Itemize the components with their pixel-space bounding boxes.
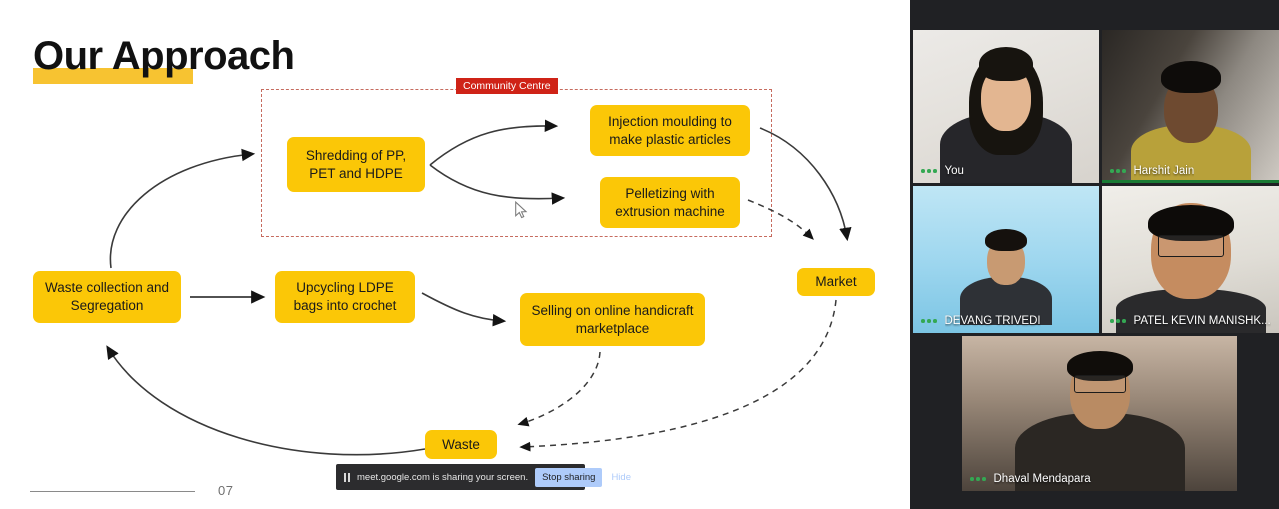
- participant-name: Dhaval Mendapara: [994, 472, 1091, 486]
- participant-name: DEVANG TRIVEDI: [945, 314, 1041, 328]
- tile-label: You: [913, 160, 1099, 183]
- slide-title-block: Our Approach: [33, 30, 294, 82]
- participant-tile-you[interactable]: You: [913, 30, 1099, 183]
- tile-label: PATEL KEVIN MANISHK...: [1102, 310, 1279, 333]
- participant-tile-dhaval-mendapara[interactable]: Dhaval Mendapara: [962, 336, 1237, 491]
- participant-tile-devang-trivedi[interactable]: DEVANG TRIVEDI: [913, 186, 1099, 333]
- participant-name: PATEL KEVIN MANISHK...: [1134, 314, 1271, 328]
- tile-label: Dhaval Mendapara: [962, 468, 1237, 491]
- node-injection-moulding[interactable]: Injection moulding to make plastic artic…: [590, 105, 750, 156]
- node-pelletizing[interactable]: Pelletizing with extrusion machine: [600, 177, 740, 228]
- meet-panel-topbar: [910, 0, 1279, 27]
- sharing-status-text: meet.google.com is sharing your screen.: [357, 472, 528, 483]
- mic-active-dots-icon: [921, 319, 937, 323]
- node-waste[interactable]: Waste: [425, 430, 497, 459]
- arrow-collection-to-shredding: [110, 154, 252, 268]
- tile-label: DEVANG TRIVEDI: [913, 310, 1099, 333]
- tile-label: Harshit Jain: [1102, 160, 1279, 183]
- mic-active-dots-icon: [970, 477, 986, 481]
- slide-page-number: 07: [218, 483, 233, 498]
- stop-sharing-button[interactable]: Stop sharing: [535, 468, 602, 487]
- node-upcycling-ldpe[interactable]: Upcycling LDPE bags into crochet: [275, 271, 415, 323]
- participant-name: You: [945, 164, 964, 178]
- arrow-selling-to-waste: [520, 352, 600, 424]
- glasses-icon: [1158, 235, 1224, 257]
- arrow-upcycling-to-selling: [422, 293, 503, 321]
- screen-share-bar: meet.google.com is sharing your screen. …: [336, 464, 585, 490]
- participant-name: Harshit Jain: [1134, 164, 1195, 178]
- mic-active-dots-icon: [921, 169, 937, 173]
- node-shredding[interactable]: Shredding of PP, PET and HDPE: [287, 137, 425, 192]
- participant-tile-harshit-jain[interactable]: Harshit Jain: [1102, 30, 1279, 183]
- node-selling-online[interactable]: Selling on online handicraft marketplace: [520, 293, 705, 346]
- node-waste-collection[interactable]: Waste collection and Segregation: [33, 271, 181, 323]
- screen: Our Approach Community Centre: [0, 0, 1279, 509]
- glasses-icon: [1074, 375, 1126, 393]
- pause-icon[interactable]: [344, 473, 350, 482]
- mic-active-dots-icon: [1110, 319, 1126, 323]
- slide-footer-rule: [30, 491, 195, 492]
- mouse-pointer-icon: [514, 201, 528, 219]
- page-title: Our Approach: [33, 30, 294, 82]
- mic-active-dots-icon: [1110, 169, 1126, 173]
- shared-slide: Our Approach Community Centre: [0, 0, 910, 509]
- arrow-waste-to-collection: [108, 348, 425, 455]
- arrow-injection-to-market: [760, 128, 847, 238]
- hide-button[interactable]: Hide: [609, 469, 633, 486]
- community-centre-badge: Community Centre: [456, 78, 558, 94]
- participant-tile-patel-kevin[interactable]: PATEL KEVIN MANISHK...: [1102, 186, 1279, 333]
- node-market[interactable]: Market: [797, 268, 875, 296]
